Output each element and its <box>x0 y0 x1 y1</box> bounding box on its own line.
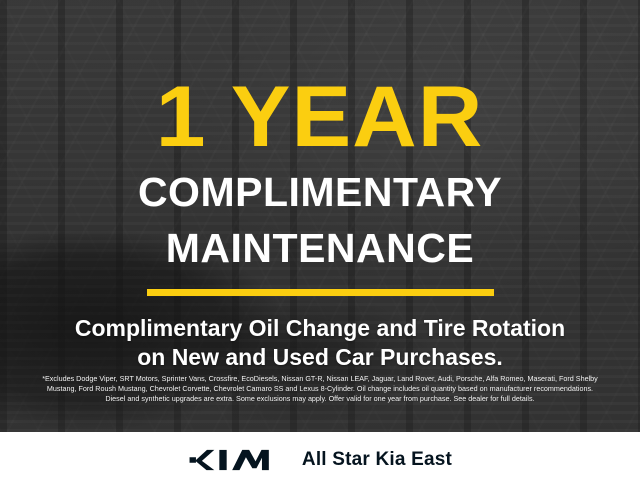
dealer-name: All Star Kia East <box>302 449 452 471</box>
hero-section: 1 YEAR COMPLIMENTARY MAINTENANCE Complim… <box>0 0 640 432</box>
kia-logo <box>188 449 280 471</box>
disclaimer-line-3: Diesel and synthetic upgrades are extra.… <box>12 394 628 404</box>
yellow-divider-bar <box>147 289 494 296</box>
disclaimer-text: *Excludes Dodge Viper, SRT Motors, Sprin… <box>12 374 628 405</box>
offer-line-1: Complimentary Oil Change and Tire Rotati… <box>75 314 565 343</box>
hero-content: 1 YEAR COMPLIMENTARY MAINTENANCE Complim… <box>0 0 640 432</box>
offer-text: Complimentary Oil Change and Tire Rotati… <box>75 314 565 373</box>
disclaimer-line-1: *Excludes Dodge Viper, SRT Motors, Sprin… <box>12 374 628 384</box>
headline-secondary-line-2: MAINTENANCE <box>166 227 474 269</box>
headline-secondary-line-1: COMPLIMENTARY <box>138 171 502 213</box>
disclaimer-line-2: Mustang, Ford Roush Mustang, Chevrolet C… <box>12 384 628 394</box>
headline-primary: 1 YEAR <box>156 78 484 157</box>
promotional-banner: 1 YEAR COMPLIMENTARY MAINTENANCE Complim… <box>0 0 640 488</box>
offer-line-2: on New and Used Car Purchases. <box>75 343 565 372</box>
footer-bar: All Star Kia East <box>0 432 640 488</box>
